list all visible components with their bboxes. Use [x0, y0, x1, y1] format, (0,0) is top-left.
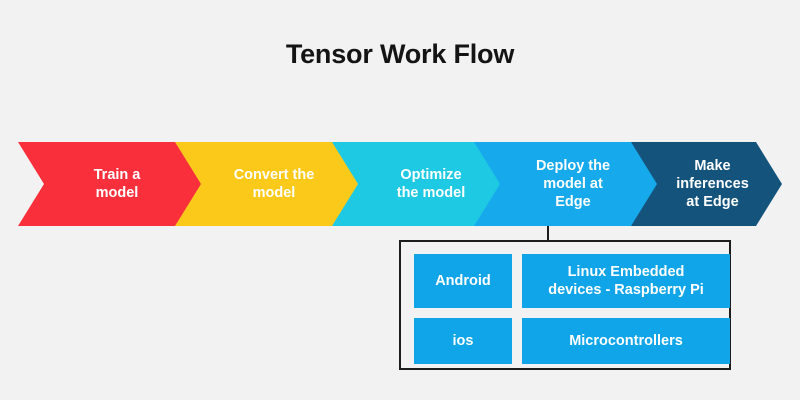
- flow-step-label: Deploy the model at Edge: [516, 157, 618, 211]
- deploy-to-devices-connector: [547, 226, 549, 241]
- flow-step-label: Train a model: [74, 166, 149, 202]
- tensor-work-flow-diagram: Tensor Work Flow Train a model Convert t…: [0, 0, 800, 400]
- edge-devices-grid: Android Linux Embedded devices - Raspber…: [401, 242, 729, 368]
- flow-step-label: Make inferences at Edge: [656, 157, 757, 211]
- edge-device-android[interactable]: Android: [414, 254, 512, 308]
- page-title: Tensor Work Flow: [0, 38, 800, 70]
- flow-step-convert[interactable]: Convert the model: [175, 142, 361, 226]
- flow-step-label: Convert the model: [214, 166, 323, 202]
- edge-device-linux-embedded[interactable]: Linux Embedded devices - Raspberry Pi: [522, 254, 730, 308]
- edge-device-ios[interactable]: ios: [414, 318, 512, 364]
- edge-device-microcontrollers[interactable]: Microcontrollers: [522, 318, 730, 364]
- process-flow: Train a model Convert the model Optimize…: [0, 142, 800, 226]
- flow-step-label: Optimize the model: [377, 166, 473, 202]
- flow-step-train[interactable]: Train a model: [18, 142, 204, 226]
- edge-devices-box: Android Linux Embedded devices - Raspber…: [399, 240, 731, 370]
- flow-step-deploy[interactable]: Deploy the model at Edge: [474, 142, 660, 226]
